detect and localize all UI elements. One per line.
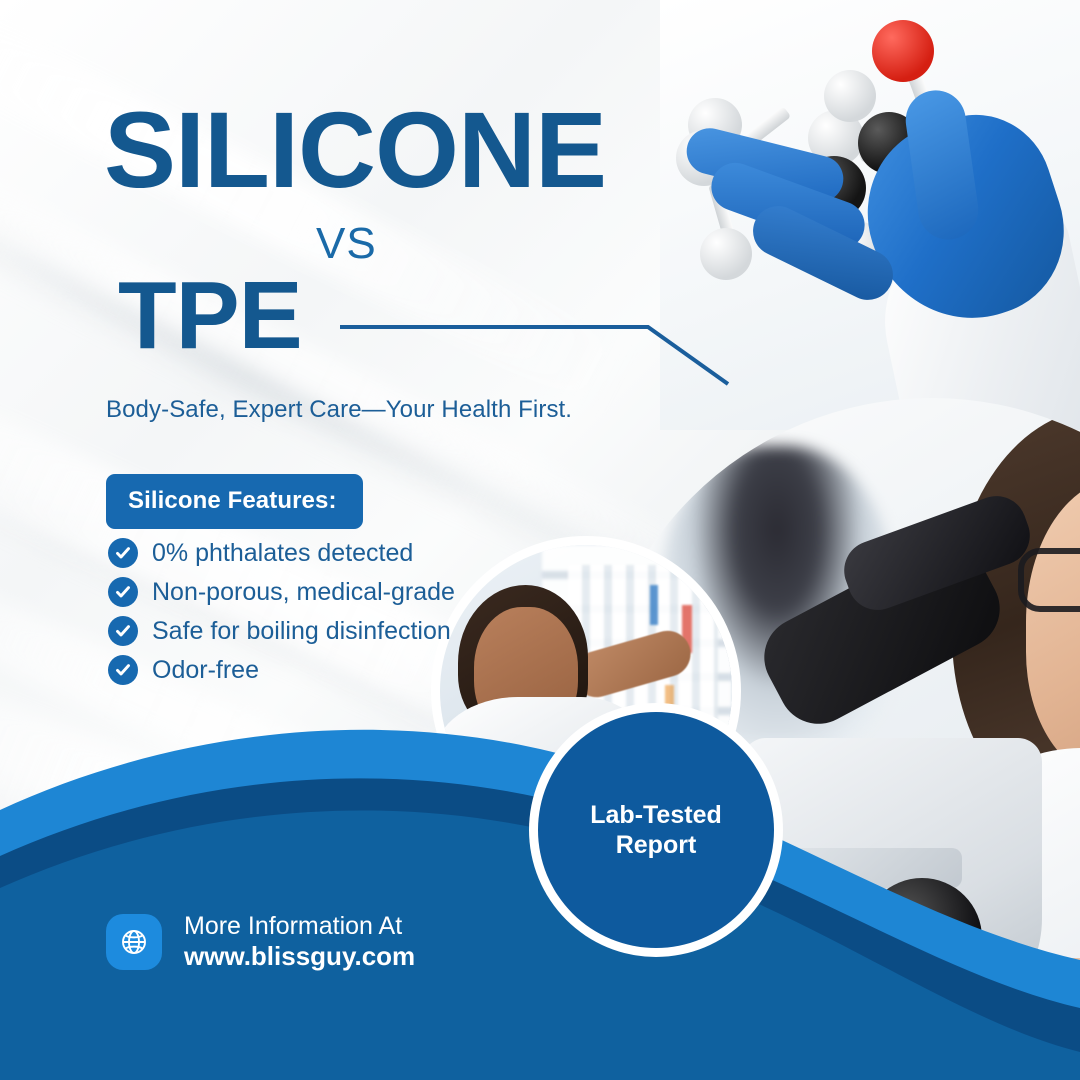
feature-item: 0% phthalates detected (108, 538, 455, 568)
tagline: Body-Safe, Expert Care—Your Health First… (106, 396, 572, 424)
headline-vs: VS (316, 222, 606, 266)
feature-label: 0% phthalates detected (152, 539, 413, 568)
connector-line (330, 300, 750, 410)
headline-silicone: SILICONE (104, 96, 606, 204)
check-circle-icon (108, 577, 138, 607)
check-circle-icon (108, 538, 138, 568)
footer-text-block: More Information At www.blissguy.com (184, 912, 415, 972)
feature-label: Safe for boiling disinfection (152, 617, 451, 646)
website-url[interactable]: www.blissguy.com (184, 941, 415, 972)
footer-line-1: More Information At (184, 912, 415, 941)
feature-item: Safe for boiling disinfection (108, 616, 455, 646)
bottle-label-accent (650, 585, 658, 625)
lab-tested-report-badge: Lab-Tested Report (538, 712, 774, 948)
oxygen-atom (872, 20, 934, 82)
feature-label: Non-porous, medical-grade (152, 578, 455, 607)
feature-label: Odor-free (152, 656, 259, 685)
hydrogen-atom (824, 70, 876, 122)
hydrogen-atom (700, 228, 752, 280)
poster-canvas: SILICONE VS TPE Body-Safe, Expert Care—Y… (0, 0, 1080, 1080)
check-circle-icon (108, 616, 138, 646)
scientist-glasses (1018, 548, 1080, 612)
silicone-features-badge: Silicone Features: (106, 474, 363, 529)
feature-item: Odor-free (108, 655, 455, 685)
feature-item: Non-porous, medical-grade (108, 577, 455, 607)
footer-contact: More Information At www.blissguy.com (106, 912, 415, 972)
lab-tested-report-label: Lab-Tested Report (590, 800, 722, 860)
globe-icon (106, 914, 162, 970)
bottom-wave-decoration (0, 660, 1080, 1080)
features-list: 0% phthalates detected Non-porous, medic… (108, 538, 455, 694)
check-circle-icon (108, 655, 138, 685)
